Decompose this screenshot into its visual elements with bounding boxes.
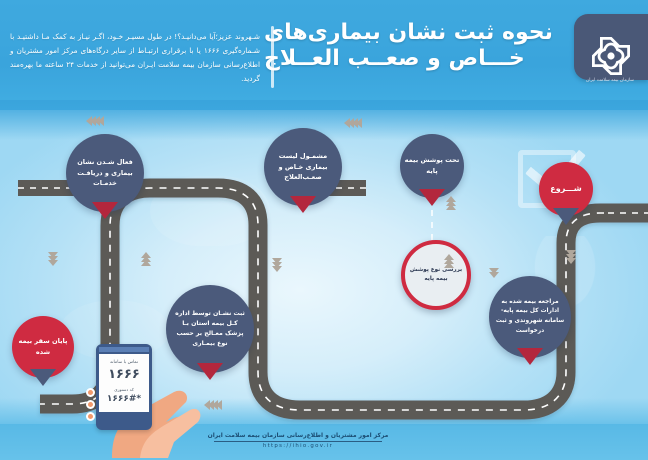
chevron-arrow-icon: [444, 254, 454, 266]
flow-node-on-list[interactable]: مشمـول لیست بیماری خـاص و صعـب‌العلاج: [264, 128, 342, 206]
flow-node-on-list-tail: [290, 196, 316, 213]
page-title: نحوه ثبت نشان بیماری‌های خـــاص و صعــب …: [264, 20, 564, 73]
phone-status-bar: [99, 347, 149, 352]
flow-node-activate[interactable]: فعال شـدن نشان بیماری و دریافـت خدمـات: [66, 134, 144, 212]
flow-node-end-tail: [30, 369, 56, 386]
flow-node-check-coverage[interactable]: بررسی نوع پوشش بیمه پایه: [401, 240, 471, 310]
phone-call-caption: تماس با سامانه: [99, 360, 149, 365]
flow-node-on-list-bubble: مشمـول لیست بیماری خـاص و صعـب‌العلاج: [264, 128, 342, 206]
flow-node-on-list-label: مشمـول لیست بیماری خـاص و صعـب‌العلاج: [270, 151, 336, 182]
chevron-arrow-icon: [566, 250, 576, 262]
chevron-arrow-icon: [489, 268, 499, 276]
footer: مرکز امور مشتریان و اطلاع‌رسانی سازمان ب…: [198, 432, 398, 449]
phone-dot-icon: [86, 412, 95, 421]
chevron-arrow-icon: [141, 252, 151, 264]
phone-ussd-code: *۱۶۶۶#: [99, 394, 149, 404]
phone-dot-icon: [86, 400, 95, 409]
flow-node-start-label: شـــروع: [543, 183, 589, 195]
org-logo-caption: سازمان بیمه سلامت ایران: [582, 78, 638, 83]
flow-node-referral[interactable]: مراجعه بیمه شده به ادارات کل بیمه پایه- …: [489, 276, 571, 358]
header-divider: [271, 26, 274, 88]
phone-ussd-caption: کد دستوری: [99, 387, 149, 392]
flow-node-end[interactable]: پایان سفر بیمه شده: [12, 316, 74, 378]
flow-node-activate-label: فعال شـدن نشان بیماری و دریافـت خدمـات: [71, 157, 139, 188]
flow-node-start-tail: [553, 208, 579, 225]
flow-node-referral-label: مراجعه بیمه شده به ادارات کل بیمه پایه- …: [494, 298, 566, 336]
footer-divider: [214, 441, 382, 442]
flow-node-activate-bubble: فعال شـدن نشان بیماری و دریافـت خدمـات: [66, 134, 144, 212]
flow-node-covered[interactable]: تحت پوشش بیمه پایه: [400, 134, 464, 198]
chevron-arrow-icon: [272, 258, 282, 270]
quatrefoil-star-logo-icon: [590, 36, 632, 76]
hand-holding-phone-icon: تماس با سامانه ۱۶۶۶ کد دستوری *۱۶۶۶#: [78, 340, 218, 460]
flow-node-activate-tail: [92, 202, 118, 219]
footer-org-name: مرکز امور مشتریان و اطلاع‌رسانی سازمان ب…: [198, 432, 398, 439]
infographic-canvas: سازمان بیمه سلامت ایران نحوه ثبت نشان بی…: [0, 0, 648, 460]
phone-dot-icon: [86, 388, 95, 397]
flow-node-start[interactable]: شـــروع: [539, 162, 593, 216]
page-title-line1: نحوه ثبت نشان بیماری‌های: [264, 20, 564, 46]
page-title-line2: خـــاص و صعــب العــلاج: [264, 46, 564, 73]
chevron-arrow-icon: [344, 118, 360, 128]
phone-screen: تماس با سامانه ۱۶۶۶ کد دستوری *۱۶۶۶#: [99, 354, 149, 412]
smartphone-icon: تماس با سامانه ۱۶۶۶ کد دستوری *۱۶۶۶#: [96, 344, 152, 430]
intro-paragraph: شـهروند عزیز؛آیا می‌دانیـد؟! در طول مسیـ…: [10, 30, 260, 86]
phone-hotline-number: ۱۶۶۶: [99, 367, 149, 382]
flow-node-referral-bubble: مراجعه بیمه شده به ادارات کل بیمه پایه- …: [489, 276, 571, 358]
flow-node-referral-tail: [517, 348, 543, 365]
flow-node-end-label: پایان سفر بیمه شده: [16, 336, 70, 357]
chevron-arrow-icon: [86, 116, 102, 126]
flow-node-covered-tail: [419, 189, 445, 206]
flow-node-covered-label: تحت پوشش بیمه پایه: [404, 155, 460, 176]
chevron-arrow-icon: [446, 196, 456, 208]
flow-node-check-coverage-label: بررسی نوع پوشش بیمه پایه: [409, 266, 463, 283]
org-logo-plate: سازمان بیمه سلامت ایران: [574, 14, 648, 80]
chevron-arrow-icon: [48, 252, 58, 264]
footer-url[interactable]: https://ihio.gov.ir: [198, 443, 398, 449]
